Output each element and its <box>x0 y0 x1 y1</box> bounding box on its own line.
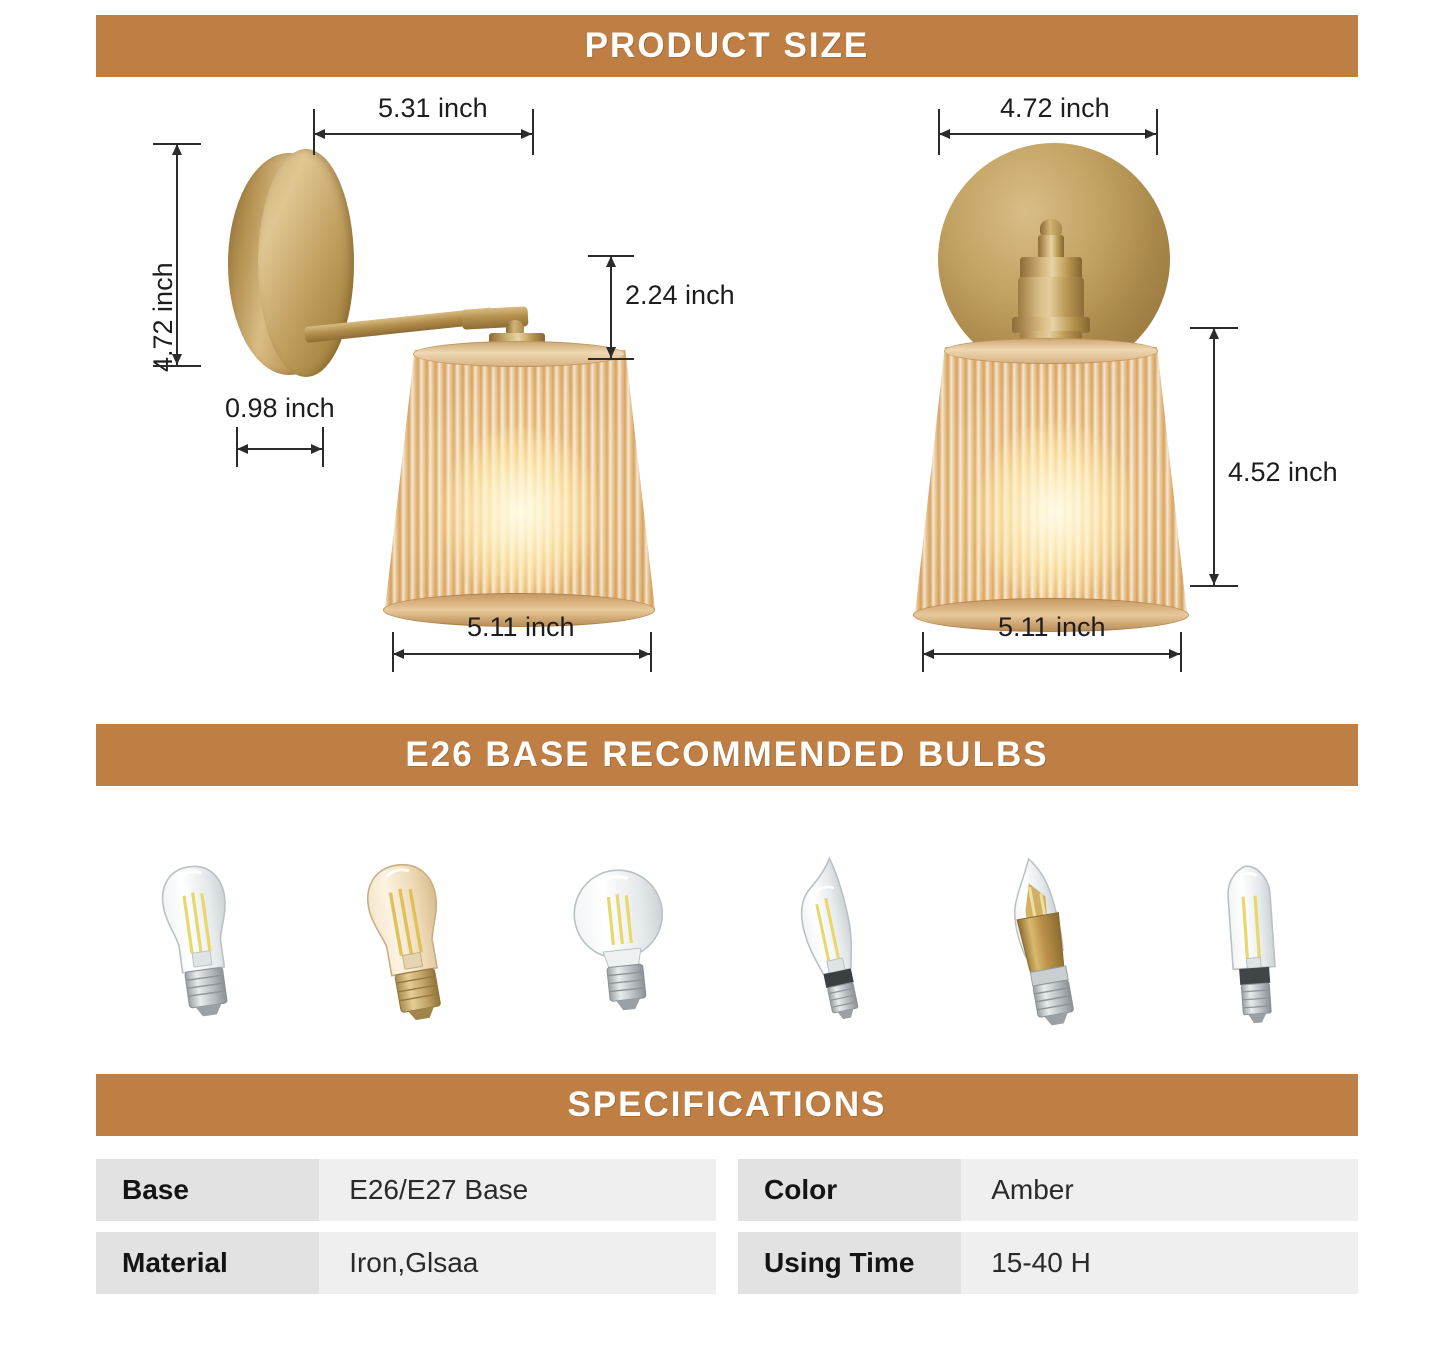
table-row: Material Iron,Glsaa <box>96 1232 716 1294</box>
dimension-tick <box>322 427 324 467</box>
specifications-table-right: Color Amber Using Time 15-40 H <box>738 1159 1358 1294</box>
spec-key-base: Base <box>96 1159 319 1221</box>
section-header-recommended-bulbs: E26 BASE RECOMMENDED BULBS <box>96 724 1358 786</box>
bulb-glow-icon <box>975 422 1135 602</box>
dimension-arrow <box>639 649 650 659</box>
table-row: Using Time 15-40 H <box>738 1232 1358 1294</box>
dimension-tick <box>532 109 534 155</box>
dimension-arrow <box>1169 649 1180 659</box>
dimension-arrow <box>923 649 934 659</box>
dimension-tick <box>1180 632 1182 672</box>
dimension-label-backplate-diameter: 4.72 inch <box>1000 93 1110 124</box>
socket-collar-icon <box>1020 257 1082 279</box>
dimension-line <box>610 255 612 359</box>
dimension-arrow <box>939 129 950 139</box>
glass-shade-top-rim-icon <box>944 338 1158 364</box>
dimension-line <box>313 133 533 135</box>
dimension-arrow <box>393 649 404 659</box>
spec-value-color: Amber <box>961 1159 1358 1221</box>
section-header-product-size: PRODUCT SIZE <box>96 15 1358 77</box>
spec-key-color: Color <box>738 1159 961 1221</box>
bulb-g25-globe-clear-icon <box>547 842 697 1042</box>
bulb-st64-edison-clear-icon <box>126 842 276 1042</box>
dimension-label-projection: 5.31 inch <box>378 93 488 124</box>
spec-key-material: Material <box>96 1232 319 1294</box>
spec-value-base: E26/E27 Base <box>319 1159 716 1221</box>
recommended-bulbs-row <box>96 812 1358 1042</box>
table-row: Color Amber <box>738 1159 1358 1221</box>
spec-value-material: Iron,Glsaa <box>319 1232 716 1294</box>
dimension-arrow <box>311 444 322 454</box>
dimension-label-socket-height: 2.24 inch <box>625 280 735 311</box>
dimension-line <box>938 133 1157 135</box>
specifications-table-left: Base E26/E27 Base Material Iron,Glsaa <box>96 1159 716 1294</box>
dimension-line <box>1213 327 1215 586</box>
section-title-specifications: SPECIFICATIONS <box>567 1085 886 1125</box>
dimension-tick <box>650 632 652 672</box>
dimension-arrow <box>606 347 616 358</box>
dimension-arrow <box>172 354 182 365</box>
backplate-side-face-icon <box>258 149 354 377</box>
dimension-arrow <box>1145 129 1156 139</box>
socket-body-icon <box>1018 277 1084 319</box>
bulb-ca35-flame-tip-clear-icon <box>757 842 907 1042</box>
product-size-diagram-area: 5.31 inch 4.72 inch 0.98 inch 2.24 inch … <box>0 77 1440 717</box>
dimension-label-shade-width: 5.11 inch <box>998 612 1106 643</box>
dimension-line <box>392 653 651 655</box>
bulb-c35-candle-gold-icon <box>967 842 1117 1042</box>
dimension-arrow <box>521 129 532 139</box>
section-header-specifications: SPECIFICATIONS <box>96 1074 1358 1136</box>
glass-shade-top-rim-icon <box>413 341 625 367</box>
dimension-line <box>176 143 178 366</box>
table-row: Base E26/E27 Base <box>96 1159 716 1221</box>
dimension-label-backplate-depth: 0.98 inch <box>225 393 335 424</box>
dimension-arrow <box>1209 574 1219 585</box>
dimension-arrow <box>314 129 325 139</box>
dimension-arrow <box>1209 328 1219 339</box>
spec-key-using-time: Using Time <box>738 1232 961 1294</box>
dimension-label-shade-width: 5.11 inch <box>467 612 575 643</box>
socket-neck-icon <box>1038 235 1064 259</box>
dimension-arrow <box>606 256 616 267</box>
dimension-line <box>236 448 323 450</box>
dimension-line <box>922 653 1181 655</box>
bulb-glow-icon <box>440 427 600 597</box>
spec-value-using-time: 15-40 H <box>961 1232 1358 1294</box>
dimension-arrow <box>172 144 182 155</box>
section-title-recommended-bulbs: E26 BASE RECOMMENDED BULBS <box>405 735 1048 775</box>
dimension-arrow <box>237 444 248 454</box>
section-title-product-size: PRODUCT SIZE <box>585 26 870 66</box>
dimension-label-shade-height: 4.52 inch <box>1228 457 1338 488</box>
bulb-t45-tubular-clear-icon <box>1178 842 1328 1042</box>
specifications-tables: Base E26/E27 Base Material Iron,Glsaa Co… <box>96 1159 1358 1294</box>
dimension-tick <box>1156 109 1158 155</box>
bulb-st64-edison-amber-icon <box>336 842 486 1042</box>
